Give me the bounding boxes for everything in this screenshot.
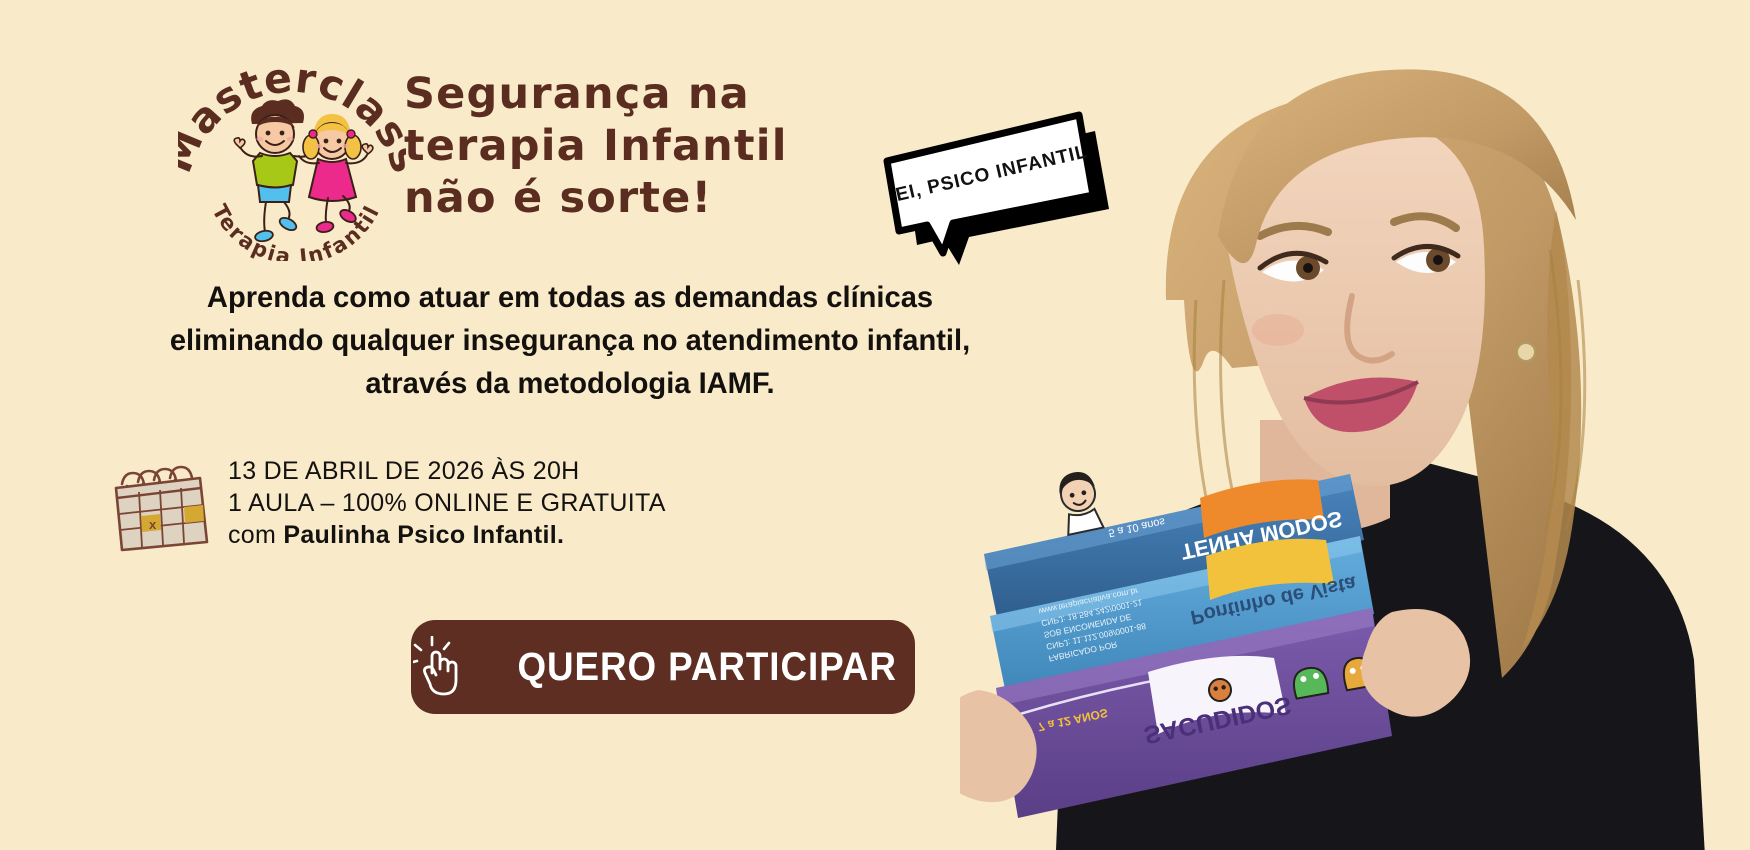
quero-participar-button[interactable]: QUERO PARTICIPAR [411, 620, 915, 714]
subheadline-line-3: através da metodologia IAMF. [17, 362, 1123, 405]
event-details: x 13 DE ABRIL DE 2026 ÀS 20H 1 AULA – 10… [108, 455, 668, 565]
cta-label: QUERO PARTICIPAR [517, 645, 896, 690]
svg-text:Terapia Infantil: Terapia Infantil [207, 201, 384, 261]
calendar-mark: x [149, 517, 157, 532]
logo-boy-figure [234, 99, 317, 242]
logo-bottom-text: Terapia Infantil [207, 201, 384, 261]
event-host-name: Paulinha Psico Infantil. [283, 521, 564, 549]
masterclass-logo: Masterclass Terapia Infantil [178, 46, 406, 261]
event-format: 1 AULA – 100% ONLINE E GRATUITA [228, 487, 666, 519]
logo-graphic: Masterclass Terapia Infantil [178, 46, 406, 261]
banner-root: Masterclass Terapia Infantil [0, 0, 1750, 850]
subheadline: Aprenda como atuar em todas as demandas … [17, 276, 1123, 405]
subheadline-line-1: Aprenda como atuar em todas as demandas … [17, 276, 1123, 319]
presenter-photo: TENHA MODOS 5 a 10 anos Pontinho [960, 0, 1750, 850]
event-host-prefix: com [228, 521, 283, 549]
event-host: com Paulinha Psico Infantil. [228, 519, 666, 551]
event-details-text: 13 DE ABRIL DE 2026 ÀS 20H 1 AULA – 100%… [228, 455, 666, 551]
event-date: 13 DE ABRIL DE 2026 ÀS 20H [228, 455, 666, 487]
subheadline-line-2: eliminando qualquer insegurança no atend… [17, 319, 1123, 362]
calendar-icon: x [108, 462, 212, 552]
click-hand-icon [413, 636, 467, 698]
